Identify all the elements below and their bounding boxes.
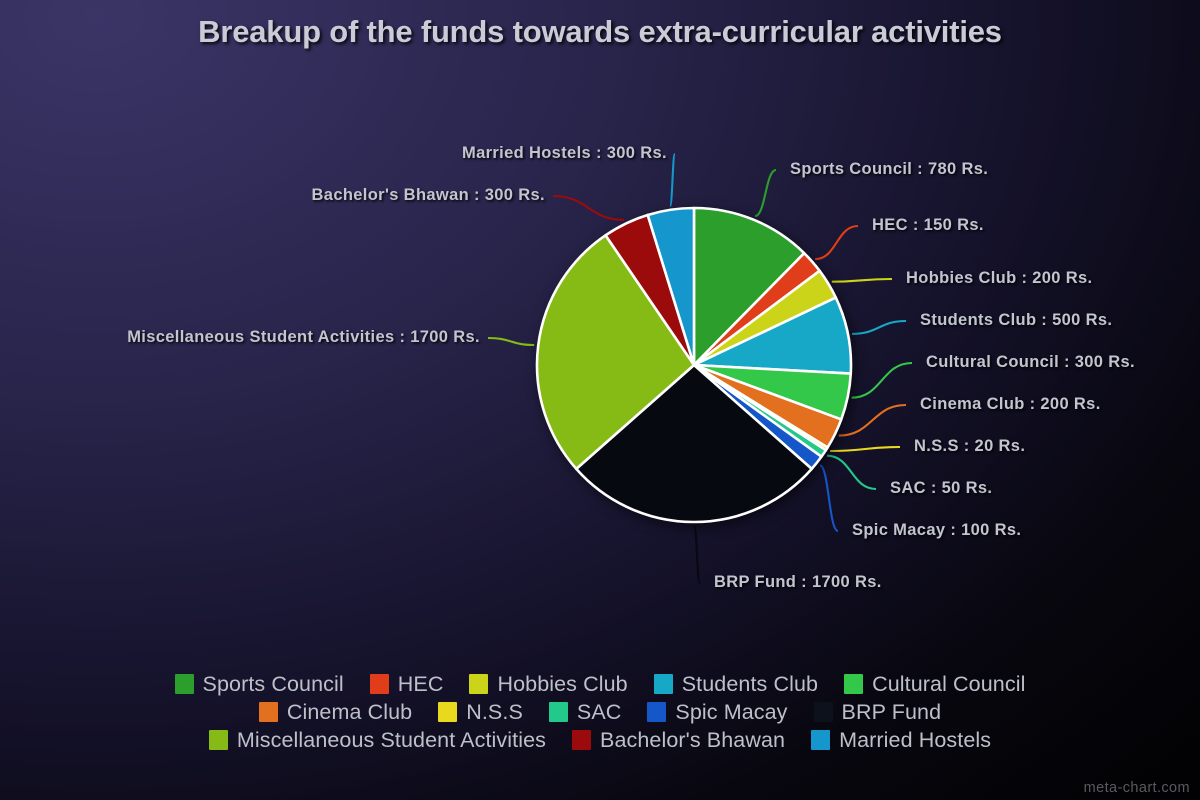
callout-label-spic-macay: Spic Macay : 100 Rs. — [852, 521, 1021, 540]
callout-label-nss: N.S.S : 20 Rs. — [914, 437, 1025, 456]
legend-label-brp-fund: BRP Fund — [842, 700, 942, 724]
legend-item-n-s-s[interactable]: N.S.S — [438, 700, 523, 724]
legend-swatch-married-hostels — [811, 730, 830, 750]
legend-swatch-cultural-council — [844, 674, 863, 694]
legend-swatch-sac — [549, 702, 568, 722]
legend-row: Sports CouncilHECHobbies ClubStudents Cl… — [175, 672, 1026, 696]
legend-label-hobbies-club: Hobbies Club — [497, 672, 627, 696]
chart-legend: Sports CouncilHECHobbies ClubStudents Cl… — [0, 672, 1200, 752]
leader-line-students-club — [852, 321, 906, 334]
legend-swatch-brp-fund — [814, 702, 833, 722]
legend-swatch-cinema-club — [259, 702, 278, 722]
leader-line-cultural-council — [852, 363, 912, 398]
legend-label-spic-macay: Spic Macay — [675, 700, 787, 724]
legend-item-brp-fund[interactable]: BRP Fund — [814, 700, 942, 724]
legend-item-hobbies-club[interactable]: Hobbies Club — [469, 672, 627, 696]
legend-label-hec: HEC — [398, 672, 444, 696]
legend-swatch-bachelor-s-bhawan — [572, 730, 591, 750]
callout-label-bachelors-bhawan: Bachelor's Bhawan : 300 Rs. — [312, 186, 545, 205]
pie-svg: Sports Council : 780 Rs.HEC : 150 Rs.Hob… — [528, 190, 858, 540]
legend-swatch-students-club — [654, 674, 673, 694]
legend-item-bachelor-s-bhawan[interactable]: Bachelor's Bhawan — [572, 728, 785, 752]
pie-chart-figure: Breakup of the funds towards extra-curri… — [0, 0, 1200, 800]
legend-item-sports-council[interactable]: Sports Council — [175, 672, 344, 696]
callout-label-sports-council: Sports Council : 780 Rs. — [790, 160, 988, 179]
legend-row: Miscellaneous Student ActivitiesBachelor… — [209, 728, 991, 752]
legend-swatch-hobbies-club — [469, 674, 488, 694]
legend-swatch-sports-council — [175, 674, 194, 694]
legend-label-cultural-council: Cultural Council — [872, 672, 1025, 696]
legend-item-miscellaneous-student-activities[interactable]: Miscellaneous Student Activities — [209, 728, 546, 752]
callout-label-brp-fund: BRP Fund : 1700 Rs. — [714, 573, 882, 592]
callout-label-students-club: Students Club : 500 Rs. — [920, 311, 1112, 330]
callout-label-miscellaneous: Miscellaneous Student Activities : 1700 … — [127, 328, 480, 347]
callout-label-married-hostels: Married Hostels : 300 Rs. — [462, 144, 667, 163]
callout-label-cinema-club: Cinema Club : 200 Rs. — [920, 395, 1101, 414]
watermark: meta-chart.com — [1084, 780, 1190, 796]
legend-item-cinema-club[interactable]: Cinema Club — [259, 700, 412, 724]
page-title: Breakup of the funds towards extra-curri… — [0, 14, 1200, 50]
legend-swatch-n-s-s — [438, 702, 457, 722]
legend-swatch-hec — [370, 674, 389, 694]
legend-row: Cinema ClubN.S.SSACSpic MacayBRP Fund — [259, 700, 941, 724]
callout-label-sac: SAC : 50 Rs. — [890, 479, 992, 498]
legend-item-hec[interactable]: HEC — [370, 672, 444, 696]
legend-item-sac[interactable]: SAC — [549, 700, 622, 724]
legend-item-spic-macay[interactable]: Spic Macay — [647, 700, 787, 724]
callout-label-hec: HEC : 150 Rs. — [872, 216, 984, 235]
legend-label-sports-council: Sports Council — [203, 672, 344, 696]
legend-swatch-spic-macay — [647, 702, 666, 722]
callout-label-cultural-council: Cultural Council : 300 Rs. — [926, 353, 1135, 372]
legend-item-cultural-council[interactable]: Cultural Council — [844, 672, 1025, 696]
legend-label-cinema-club: Cinema Club — [287, 700, 412, 724]
legend-item-students-club[interactable]: Students Club — [654, 672, 818, 696]
callout-label-hobbies-club: Hobbies Club : 200 Rs. — [906, 269, 1093, 288]
legend-item-married-hostels[interactable]: Married Hostels — [811, 728, 991, 752]
legend-label-n-s-s: N.S.S — [466, 700, 523, 724]
legend-label-married-hostels: Married Hostels — [839, 728, 991, 752]
pie-plot-area: Sports Council : 780 Rs.HEC : 150 Rs.Hob… — [528, 190, 858, 540]
legend-label-sac: SAC — [577, 700, 622, 724]
legend-label-students-club: Students Club — [682, 672, 818, 696]
legend-swatch-miscellaneous-student-activities — [209, 730, 228, 750]
legend-label-miscellaneous-student-activities: Miscellaneous Student Activities — [237, 728, 546, 752]
legend-label-bachelor-s-bhawan: Bachelor's Bhawan — [600, 728, 785, 752]
